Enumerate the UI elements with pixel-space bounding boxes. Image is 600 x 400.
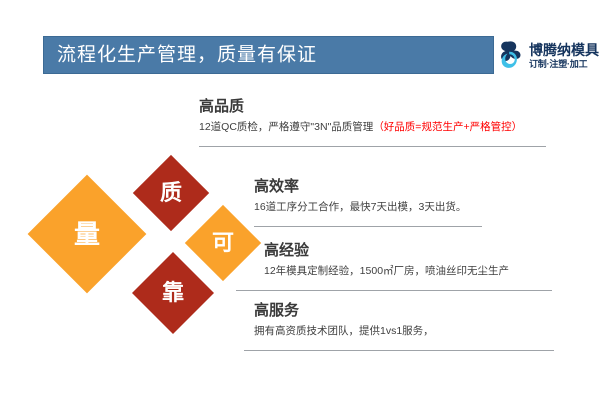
feature-title-quality: 高品质	[199, 99, 522, 116]
feature-desc-quality-text: 12道QC质检，严格遵守"3N"品质管理	[199, 121, 373, 133]
feature-desc-quality: 12道QC质检，严格遵守"3N"品质管理（好品质=规范生产+严格管控）	[199, 121, 522, 134]
feature-desc-experience: 12年模具定制经验，1500㎡厂房，喷油丝印无尘生产	[264, 265, 509, 278]
feature-desc-service-text: 拥有高资质技术团队，提供1vs1服务，	[254, 325, 434, 337]
feature-desc-experience-text: 12年模具定制经验，1500㎡厂房，喷油丝印无尘生产	[264, 265, 509, 277]
feature-block-quality: 高品质 12道QC质检，严格遵守"3N"品质管理（好品质=规范生产+严格管控）	[199, 99, 522, 134]
diamond-ke: 可	[185, 205, 261, 281]
feature-desc-service: 拥有高资质技术团队，提供1vs1服务，	[254, 325, 434, 338]
diamond-liang: 量	[28, 175, 147, 294]
feature-desc-quality-highlight: （好品质=规范生产+严格管控）	[373, 121, 522, 133]
feature-rule-experience	[236, 290, 552, 291]
header-banner: 流程化生产管理，质量有保证	[43, 36, 494, 74]
feature-title-service: 高服务	[254, 303, 434, 320]
diamond-zhi: 质	[133, 155, 209, 231]
logo-company-name: 博腾纳模具	[529, 43, 599, 58]
diamond-ke-label: 可	[212, 232, 234, 254]
brand-logo: 博腾纳模具 订制·注塑·加工	[496, 34, 598, 78]
logo-text-block: 博腾纳模具 订制·注塑·加工	[529, 43, 599, 69]
feature-block-service: 高服务 拥有高资质技术团队，提供1vs1服务，	[254, 303, 434, 338]
diamond-kao: 靠	[132, 252, 214, 334]
feature-title-experience: 高经验	[264, 243, 509, 260]
feature-rule-quality	[199, 146, 546, 147]
page-title: 流程化生产管理，质量有保证	[57, 46, 317, 65]
feature-rule-efficiency	[254, 226, 482, 227]
feature-desc-efficiency: 16道工序分工合作，最快7天出模，3天出货。	[254, 201, 466, 214]
feature-title-efficiency: 高效率	[254, 179, 466, 196]
logo-tagline: 订制·注塑·加工	[529, 59, 599, 69]
feature-block-experience: 高经验 12年模具定制经验，1500㎡厂房，喷油丝印无尘生产	[264, 243, 509, 278]
feature-desc-efficiency-text: 16道工序分工合作，最快7天出模，3天出货。	[254, 201, 466, 213]
butterfly-clover-logo-icon	[496, 39, 526, 73]
feature-block-efficiency: 高效率 16道工序分工合作，最快7天出模，3天出货。	[254, 179, 466, 214]
feature-rule-service	[244, 350, 554, 351]
diamond-zhi-label: 质	[160, 182, 182, 204]
diamond-kao-label: 靠	[162, 282, 184, 304]
diamond-liang-label: 量	[74, 221, 100, 247]
slide-canvas: 流程化生产管理，质量有保证 博腾纳模具 订制·注塑·加工 量 质 可 靠 高品质…	[0, 0, 600, 400]
